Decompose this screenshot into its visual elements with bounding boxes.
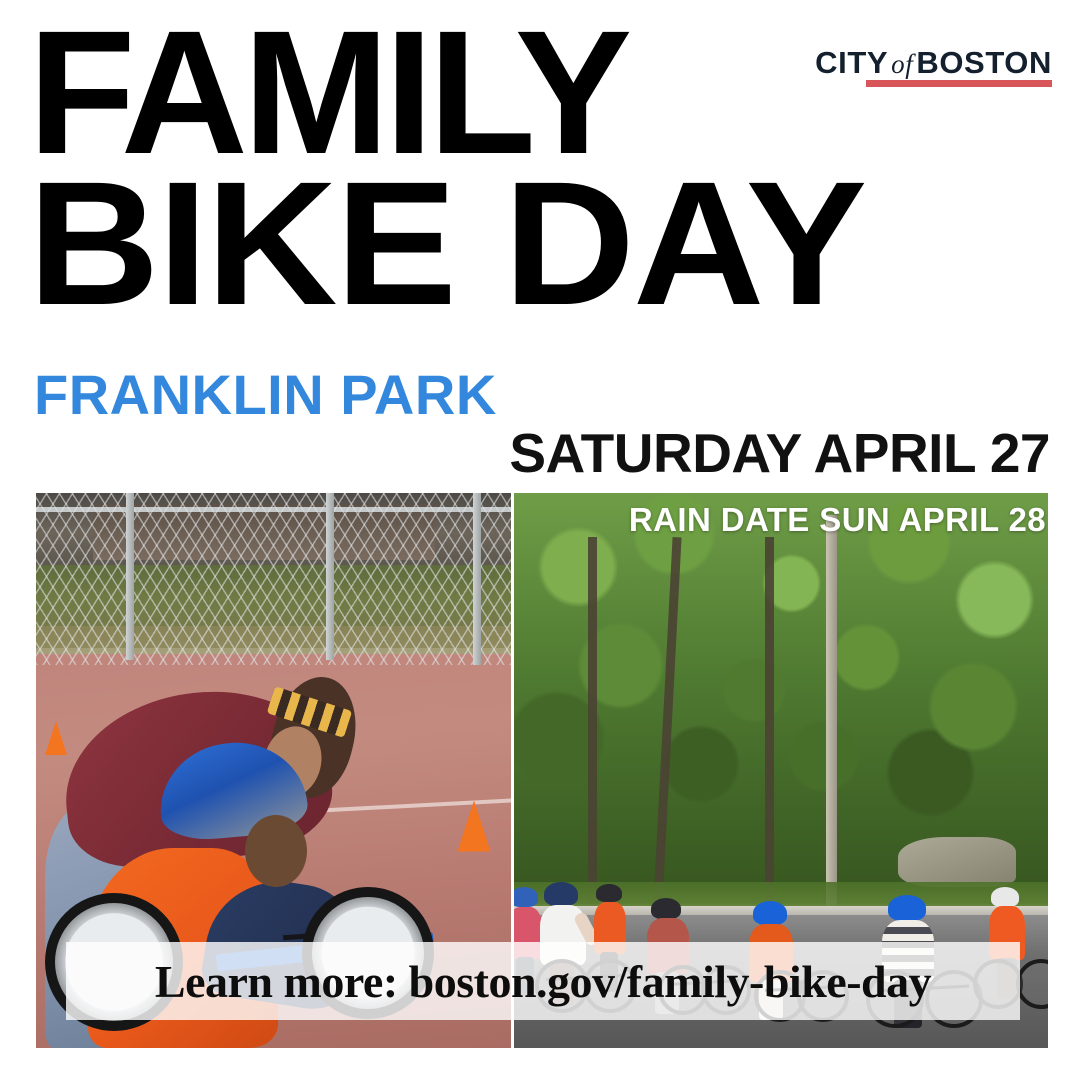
photo-left-traffic-cone [45, 721, 67, 755]
location-label: FRANKLIN PARK [34, 367, 497, 423]
photo-left-fence-post [473, 493, 481, 665]
photo-left-fence-post [326, 493, 334, 660]
headline-line-bike-day: BIKE DAY [28, 169, 1080, 320]
photo-right-helmet [651, 898, 681, 919]
rain-date-label: RAIN DATE SUN APRIL 28 [629, 503, 1046, 536]
photo-left-traffic-cone [458, 801, 491, 852]
page-title: FAMILY BIKE DAY [28, 18, 1052, 321]
photo-right-helmet [991, 887, 1019, 907]
learn-more-banner[interactable]: Learn more: boston.gov/family-bike-day [66, 942, 1020, 1020]
photo-right-rock-outcrop [898, 837, 1016, 887]
photo-right-helmet [511, 887, 539, 907]
learn-more-text[interactable]: Learn more: boston.gov/family-bike-day [155, 955, 931, 1008]
event-date: SATURDAY APRIL 27 [509, 426, 1050, 481]
photo-right-helmet [544, 882, 578, 906]
photo-left-chain-link-fence [36, 493, 511, 665]
photo-right-helmet [888, 895, 926, 921]
photo-left-child-face [245, 815, 307, 887]
photo-right-tree-trunk [765, 537, 774, 903]
photo-right-helmet [753, 901, 787, 925]
family-bike-day-poster: CITYofBOSTON FAMILY BIKE DAY FRANKLIN PA… [0, 0, 1080, 1080]
photo-right-helmet [596, 884, 622, 902]
photo-left-fence-post [126, 493, 134, 660]
photo-right-tree-trunk [588, 537, 597, 903]
